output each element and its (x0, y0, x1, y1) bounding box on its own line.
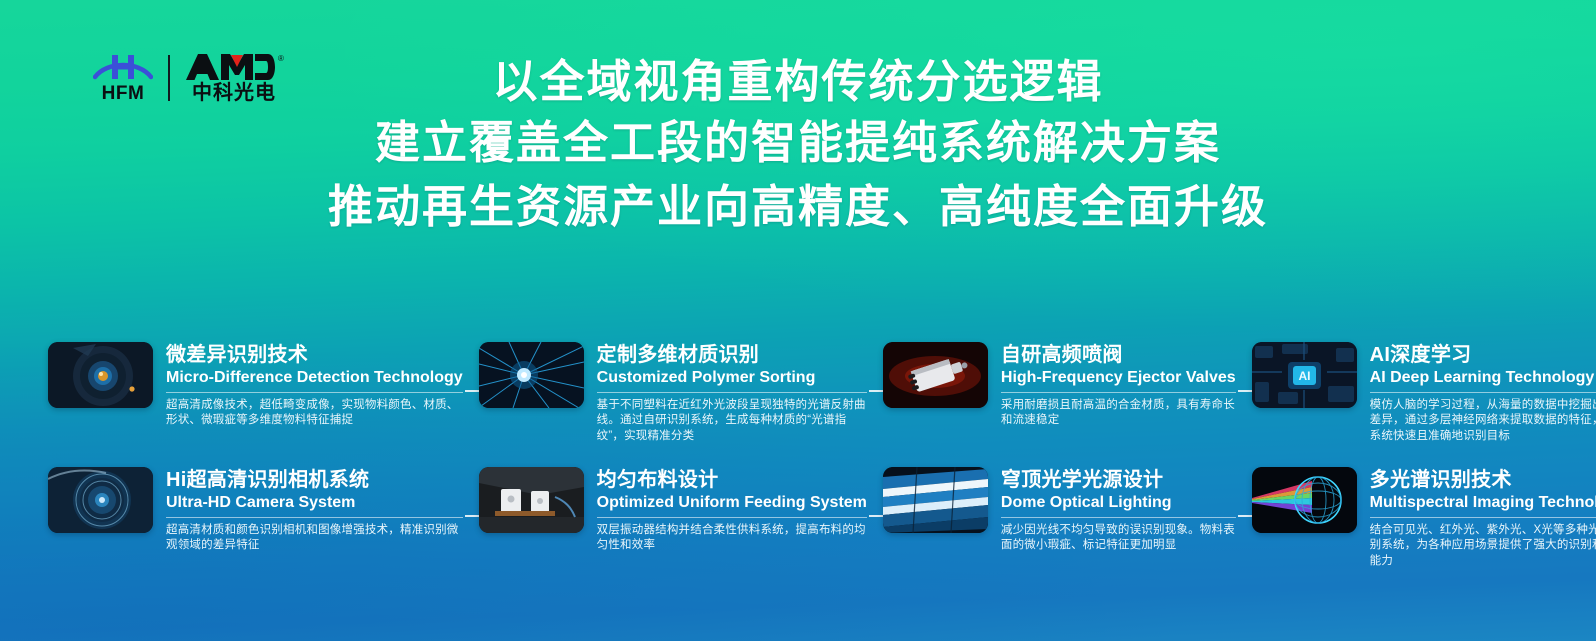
feature-card-text: Hi超高清识别相机系统 Ultra-HD Camera System 超高清材质… (166, 467, 463, 592)
headline-line-1: 以全域视角重构传统分选逻辑 (0, 52, 1596, 111)
feature-title: 微差异识别技术 (166, 344, 463, 366)
feeder-machine-icon (479, 467, 584, 533)
page-headline: 以全域视角重构传统分选逻辑 建立覆盖全工段的智能提纯系统解决方案 推动再生资源产… (0, 52, 1596, 239)
feature-card[interactable]: 定制多维材质识别 Customized Polymer Sorting 基于不同… (479, 342, 883, 467)
feature-subtitle: Optimized Uniform Feeding System (597, 493, 867, 517)
light-burst-icon (479, 342, 584, 408)
feature-title: Hi超高清识别相机系统 (166, 469, 463, 491)
feature-card-text: 自研高频喷阀 High-Frequency Ejector Valves 采用耐… (1001, 342, 1236, 467)
feature-subtitle: AI Deep Learning Technology (1370, 368, 1596, 392)
feature-title: 多光谱识别技术 (1370, 469, 1596, 491)
feature-description: 模仿人脑的学习过程，从海量的数据中挖掘出特征差异，通过多层神经网络来提取数据的特… (1370, 398, 1596, 446)
feature-description: 超高清材质和颜色识别相机和图像增强技术，精准识别微观领域的差异特征 (166, 523, 463, 555)
feature-title: AI深度学习 (1370, 344, 1596, 366)
feature-card-text: 穹顶光学光源设计 Dome Optical Lighting 减少因光线不均匀导… (1001, 467, 1236, 592)
feature-description: 结合可见光、红外光、紫外光、X光等多种光谱识别系统，为各种应用场景提供了强大的识… (1370, 523, 1596, 571)
feature-description: 基于不同塑料在近红外光波段呈现独特的光谱反射曲线。通过自研识别系统，生成每种材质… (597, 398, 867, 446)
svg-text:AI: AI (1298, 369, 1310, 383)
feature-title: 定制多维材质识别 (597, 344, 867, 366)
feature-subtitle: Customized Polymer Sorting (597, 368, 867, 392)
feature-title: 均匀布料设计 (597, 469, 867, 491)
feature-title: 穹顶光学光源设计 (1001, 469, 1236, 491)
feature-card-text: 多光谱识别技术 Multispectral Imaging Technology… (1370, 467, 1596, 592)
ai-chip-icon: AI (1252, 342, 1357, 408)
feature-description: 采用耐磨损且耐高温的合金材质，具有寿命长和流速稳定 (1001, 398, 1236, 430)
feature-card-text: 均匀布料设计 Optimized Uniform Feeding System … (597, 467, 867, 592)
feature-subtitle: Multispectral Imaging Technology (1370, 493, 1596, 517)
feature-description: 双层振动器结构并结合柔性供料系统，提高布料的均匀性和效率 (597, 523, 867, 555)
headline-line-3: 推动再生资源产业向高精度、高纯度全面升级 (0, 175, 1596, 239)
feature-card-text: AI深度学习 AI Deep Learning Technology 模仿人脑的… (1370, 342, 1596, 467)
ejector-valve-icon (883, 342, 988, 408)
feature-card[interactable]: AI AI深度学习 AI Deep Learning Technology 模仿… (1252, 342, 1596, 467)
feature-card-text: 定制多维材质识别 Customized Polymer Sorting 基于不同… (597, 342, 867, 467)
feature-card[interactable]: 均匀布料设计 Optimized Uniform Feeding System … (479, 467, 883, 592)
feature-subtitle: High-Frequency Ejector Valves (1001, 368, 1236, 392)
feature-card[interactable]: 多光谱识别技术 Multispectral Imaging Technology… (1252, 467, 1596, 592)
camera-lens-icon (48, 342, 153, 408)
feature-card[interactable]: 自研高频喷阀 High-Frequency Ejector Valves 采用耐… (883, 342, 1252, 467)
feature-description: 减少因光线不均匀导致的误识别现象。物料表面的微小瑕疵、标记特征更加明显 (1001, 523, 1236, 555)
feature-card[interactable]: 微差异识别技术 Micro-Difference Detection Techn… (48, 342, 479, 467)
feature-title: 自研高频喷阀 (1001, 344, 1236, 366)
feature-subtitle: Dome Optical Lighting (1001, 493, 1236, 517)
headline-line-2: 建立覆盖全工段的智能提纯系统解决方案 (0, 111, 1596, 175)
multispectral-sphere-icon (1252, 467, 1357, 533)
feature-card-text: 微差异识别技术 Micro-Difference Detection Techn… (166, 342, 463, 467)
feature-subtitle: Ultra-HD Camera System (166, 493, 463, 517)
feature-description: 超高清成像技术，超低畸变成像，实现物料颜色、材质、形状、微瑕疵等多维度物料特征捕… (166, 398, 463, 430)
feature-card[interactable]: 穹顶光学光源设计 Dome Optical Lighting 减少因光线不均匀导… (883, 467, 1252, 592)
feature-card-grid: 微差异识别技术 Micro-Difference Detection Techn… (48, 342, 1548, 592)
dome-light-icon (883, 467, 988, 533)
hd-camera-icon (48, 467, 153, 533)
feature-card[interactable]: Hi超高清识别相机系统 Ultra-HD Camera System 超高清材质… (48, 467, 479, 592)
feature-subtitle: Micro-Difference Detection Technology (166, 368, 463, 392)
